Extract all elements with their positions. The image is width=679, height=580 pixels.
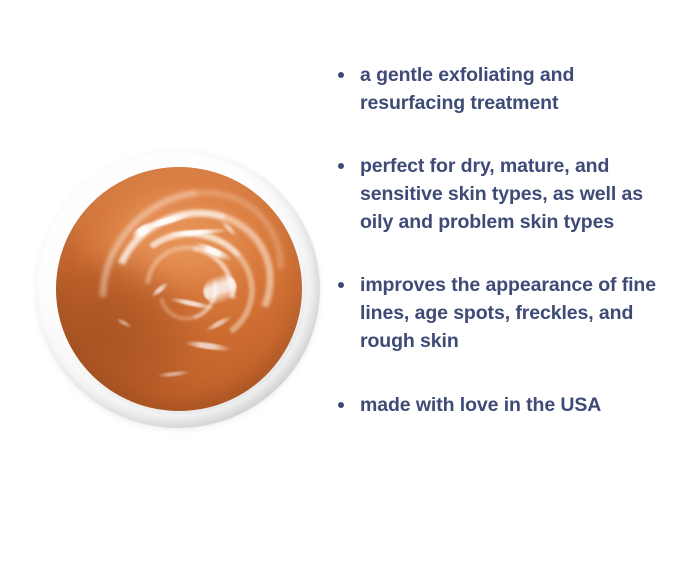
cream-surface [56, 167, 302, 411]
benefit-text: improves the appearance of fine lines, a… [360, 274, 656, 351]
bullet-dot-icon [338, 72, 344, 78]
benefit-item: made with love in the USA [336, 392, 666, 420]
benefit-text: perfect for dry, mature, and sensitive s… [360, 155, 643, 232]
bullet-dot-icon [338, 282, 344, 288]
benefits-list: a gentle exfoliating and resurfacing tre… [336, 62, 666, 419]
product-feature-panel: a gentle exfoliating and resurfacing tre… [0, 0, 679, 580]
bullet-dot-icon [338, 163, 344, 169]
benefit-item: perfect for dry, mature, and sensitive s… [336, 153, 666, 236]
product-image [36, 150, 320, 428]
benefit-item: a gentle exfoliating and resurfacing tre… [336, 62, 666, 117]
benefit-text: made with love in the USA [360, 394, 601, 416]
benefit-text: a gentle exfoliating and resurfacing tre… [360, 64, 574, 114]
benefit-item: improves the appearance of fine lines, a… [336, 272, 666, 355]
bullet-dot-icon [338, 402, 344, 408]
